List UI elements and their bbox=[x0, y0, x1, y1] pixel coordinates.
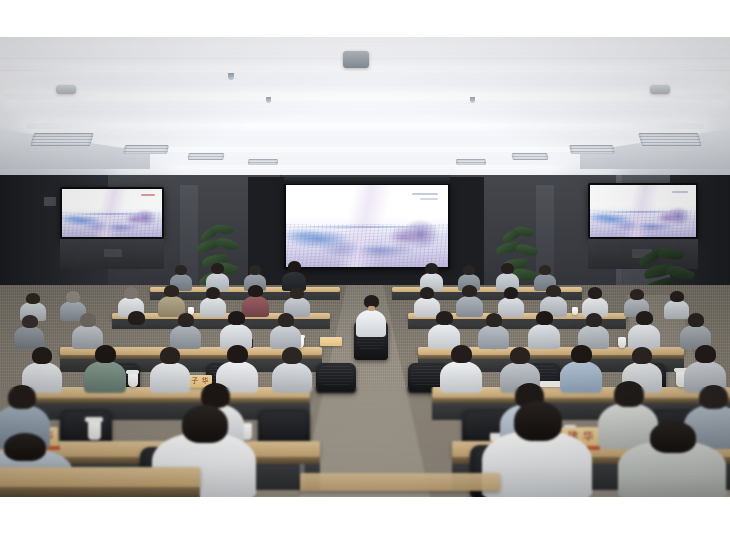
attendee bbox=[150, 347, 190, 393]
teacup-lid bbox=[85, 417, 103, 422]
task-chair bbox=[316, 363, 356, 393]
attendee bbox=[628, 311, 660, 349]
conference-room-photograph: 王 子 华 bbox=[0, 37, 730, 497]
table-edge bbox=[0, 487, 200, 497]
attendee bbox=[578, 313, 609, 349]
attendee bbox=[478, 313, 509, 349]
attendee bbox=[72, 313, 103, 349]
letterbox-bottom bbox=[0, 497, 730, 548]
attendee bbox=[440, 345, 482, 393]
teacup bbox=[88, 421, 101, 440]
teacup bbox=[128, 373, 138, 387]
attendee bbox=[528, 311, 560, 349]
foreground-attendee bbox=[618, 421, 726, 497]
name-card bbox=[320, 337, 342, 346]
attendee bbox=[272, 347, 312, 393]
front-row-attendee bbox=[356, 295, 386, 337]
attendee bbox=[680, 313, 711, 349]
attendee bbox=[120, 311, 152, 349]
teacup-lid bbox=[126, 370, 139, 374]
letterbox-top bbox=[0, 0, 730, 37]
attendee bbox=[220, 311, 252, 349]
table-row bbox=[0, 467, 200, 487]
attendee bbox=[560, 345, 602, 393]
attendee bbox=[84, 345, 126, 393]
attendee bbox=[170, 313, 201, 349]
seated-audience: 王 子 华 bbox=[0, 37, 730, 497]
attendee bbox=[14, 315, 44, 349]
attendee bbox=[270, 313, 301, 349]
table-row bbox=[300, 473, 500, 491]
attendee bbox=[428, 311, 460, 349]
photo-canvas: 王 子 华 bbox=[0, 0, 730, 548]
